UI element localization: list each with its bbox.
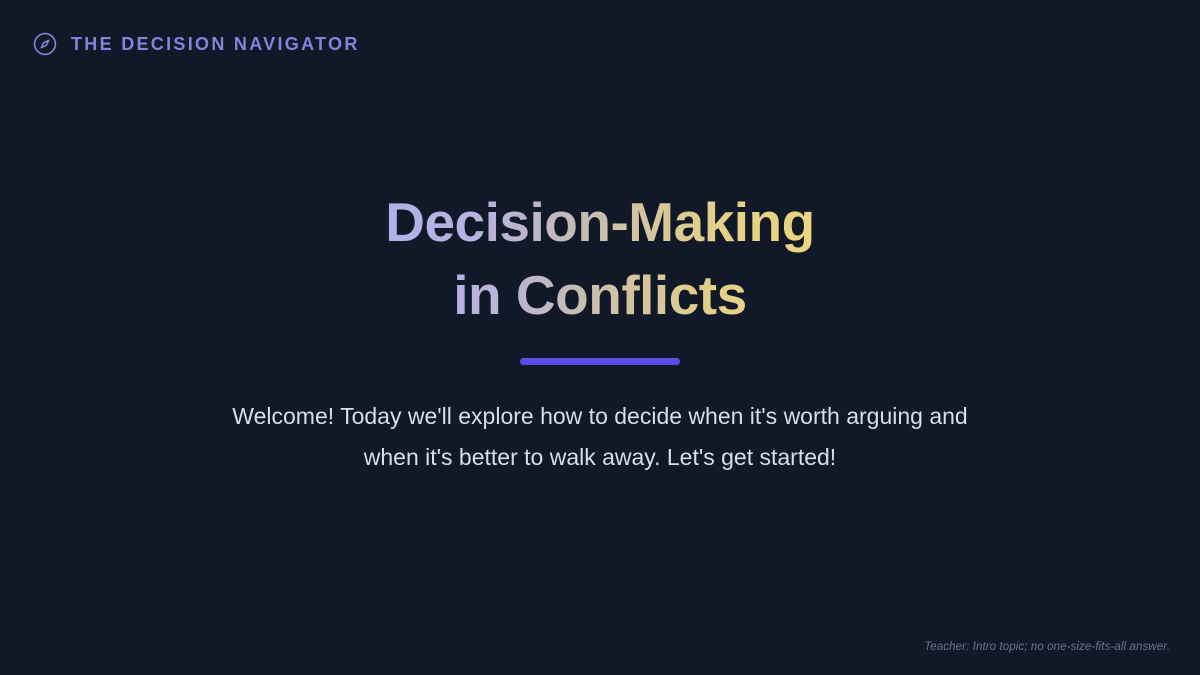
compass-icon: [32, 31, 58, 57]
title-line-2: in Conflicts: [385, 259, 815, 332]
title-line-1: Decision-Making: [385, 186, 815, 259]
accent-divider: [520, 358, 680, 365]
slide-subtitle: Welcome! Today we'll explore how to deci…: [220, 396, 980, 478]
teacher-note: Teacher: Intro topic; no one-size-fits-a…: [924, 641, 1170, 653]
title-slide: THE DECISION NAVIGATOR Decision-Making i…: [0, 0, 1200, 675]
brand-name: THE DECISION NAVIGATOR: [71, 35, 360, 53]
page-title: Decision-Making in Conflicts: [385, 186, 815, 332]
brand-lockup: THE DECISION NAVIGATOR: [32, 31, 360, 57]
slide-content: Decision-Making in Conflicts Welcome! To…: [0, 186, 1200, 478]
